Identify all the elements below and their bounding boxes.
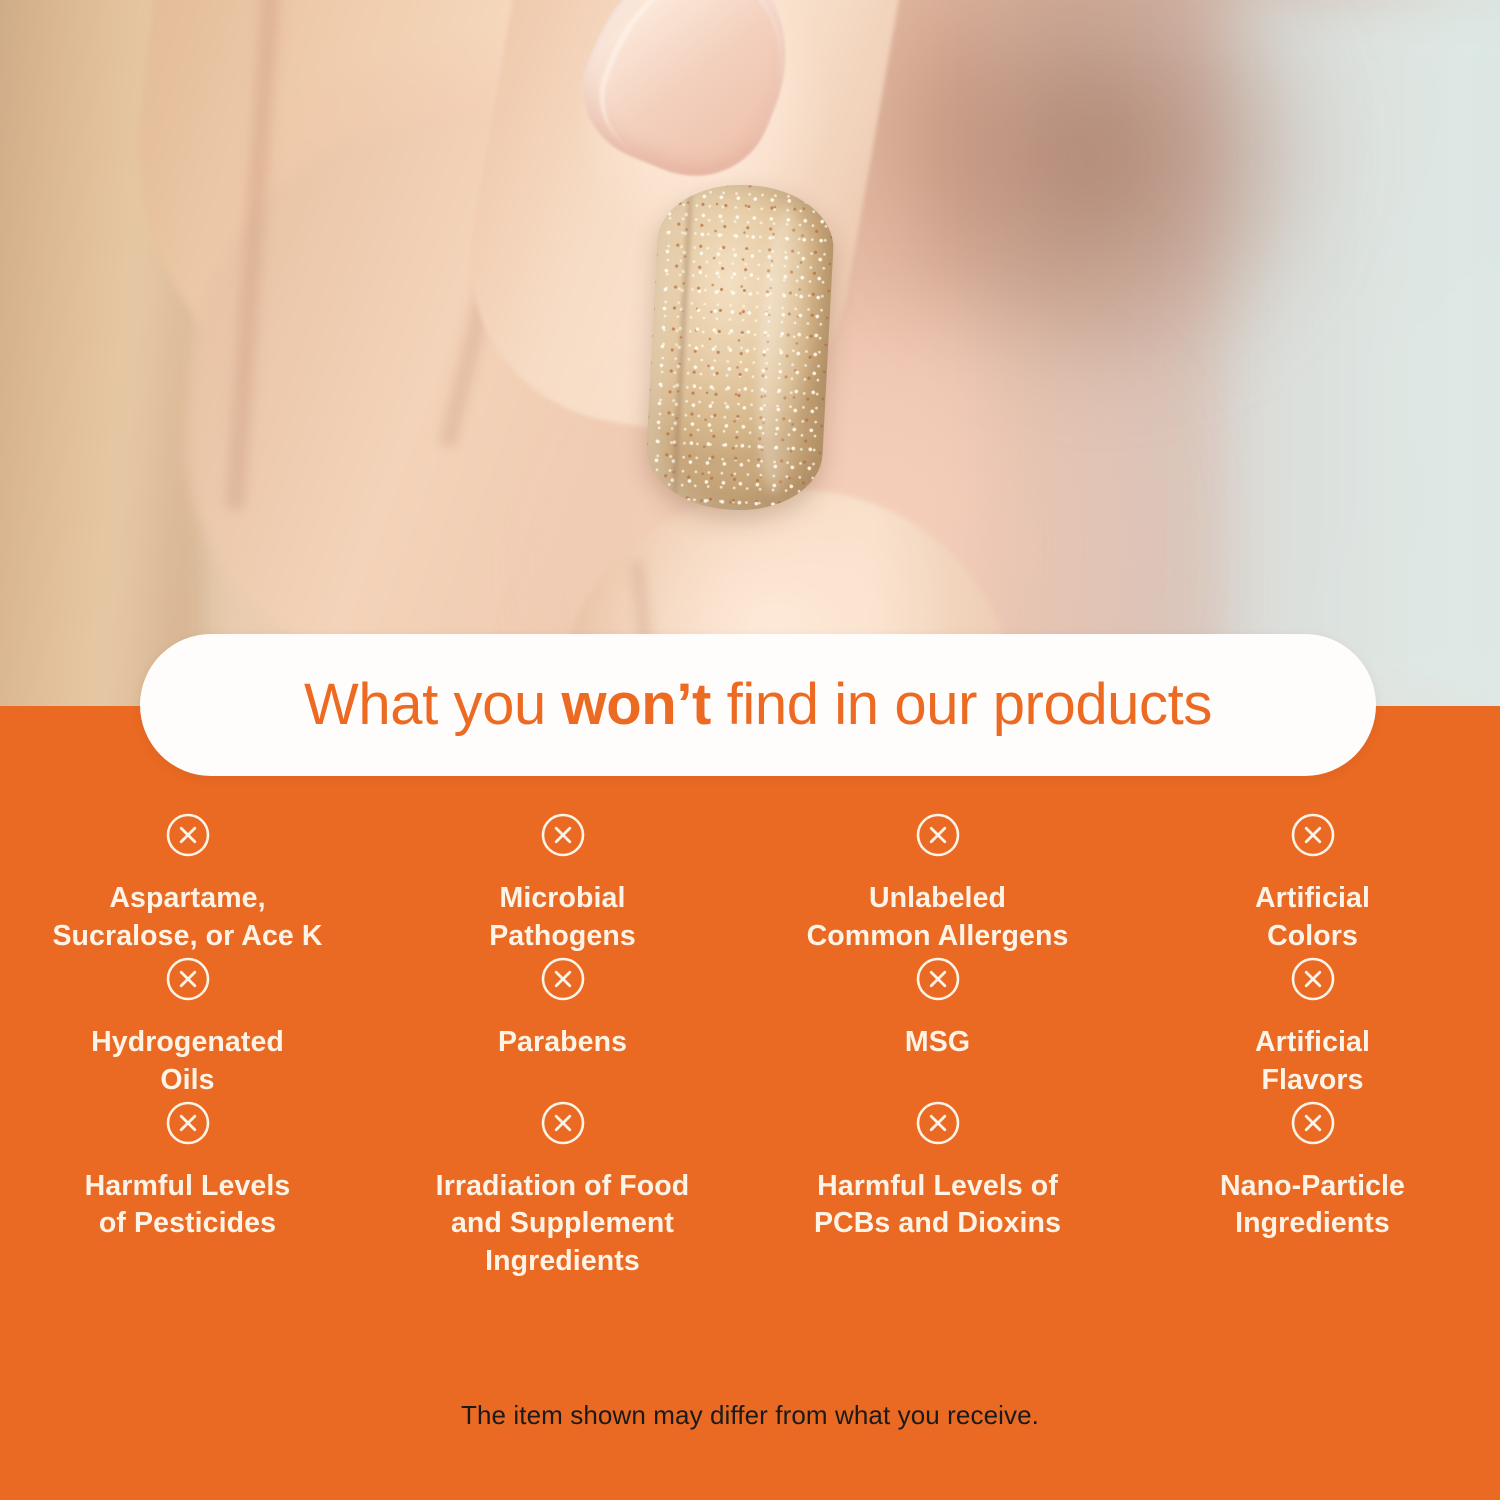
exclusion-label: Irradiation of Food and Supplement Ingre… — [436, 1168, 690, 1282]
circle-x-icon — [165, 1100, 211, 1146]
supplement-tablet — [644, 181, 837, 515]
exclusion-label: Microbial Pathogens — [489, 880, 636, 956]
circle-x-icon — [1290, 1100, 1336, 1146]
exclusion-label: Unlabeled Common Allergens — [807, 880, 1069, 956]
promo-graphic: What you won’t find in our products Aspa… — [0, 0, 1500, 1500]
circle-x-icon — [540, 812, 586, 858]
page-title: What you won’t find in our products — [304, 676, 1212, 734]
grid-cell: Harmful Levels of PCBs and Dioxins — [750, 1100, 1125, 1282]
exclusion-label: Harmful Levels of PCBs and Dioxins — [814, 1168, 1061, 1244]
title-part-1: What you — [304, 672, 562, 737]
grid-cell: Artificial Colors — [1125, 812, 1500, 956]
circle-x-icon — [1290, 956, 1336, 1002]
grid-cell: Harmful Levels of Pesticides — [0, 1100, 375, 1282]
grid-cell: Aspartame, Sucralose, or Ace K — [0, 812, 375, 956]
exclusion-label: Artificial Flavors — [1255, 1024, 1370, 1100]
title-part-2: find in our products — [711, 672, 1212, 737]
grid-cell: Parabens — [375, 956, 750, 1100]
exclusions-grid: Aspartame, Sucralose, or Ace K Microbial… — [0, 812, 1500, 1281]
exclusion-label: Artificial Colors — [1255, 880, 1370, 956]
circle-x-icon — [915, 812, 961, 858]
tablet-body — [644, 181, 837, 515]
circle-x-icon — [1290, 812, 1336, 858]
grid-cell: Microbial Pathogens — [375, 812, 750, 956]
title-emphasis: won’t — [562, 672, 711, 737]
circle-x-icon — [915, 1100, 961, 1146]
grid-cell: Irradiation of Food and Supplement Ingre… — [375, 1100, 750, 1282]
exclusion-label: Aspartame, Sucralose, or Ace K — [52, 880, 322, 956]
exclusion-label: Nano-Particle Ingredients — [1220, 1168, 1405, 1244]
circle-x-icon — [915, 956, 961, 1002]
grid-cell: Nano-Particle Ingredients — [1125, 1100, 1500, 1282]
circle-x-icon — [165, 956, 211, 1002]
grid-cell: Artificial Flavors — [1125, 956, 1500, 1100]
circle-x-icon — [540, 956, 586, 1002]
exclusion-label: MSG — [905, 1024, 970, 1062]
exclusion-label: Harmful Levels of Pesticides — [85, 1168, 291, 1244]
exclusion-label: Hydrogenated Oils — [91, 1024, 284, 1100]
grid-cell: MSG — [750, 956, 1125, 1100]
circle-x-icon — [165, 812, 211, 858]
grid-cell: Unlabeled Common Allergens — [750, 812, 1125, 956]
disclaimer-text: The item shown may differ from what you … — [0, 1400, 1500, 1431]
headline-pill: What you won’t find in our products — [140, 634, 1376, 776]
circle-x-icon — [540, 1100, 586, 1146]
grid-cell: Hydrogenated Oils — [0, 956, 375, 1100]
exclusion-label: Parabens — [498, 1024, 627, 1062]
hero-photo — [0, 0, 1500, 710]
